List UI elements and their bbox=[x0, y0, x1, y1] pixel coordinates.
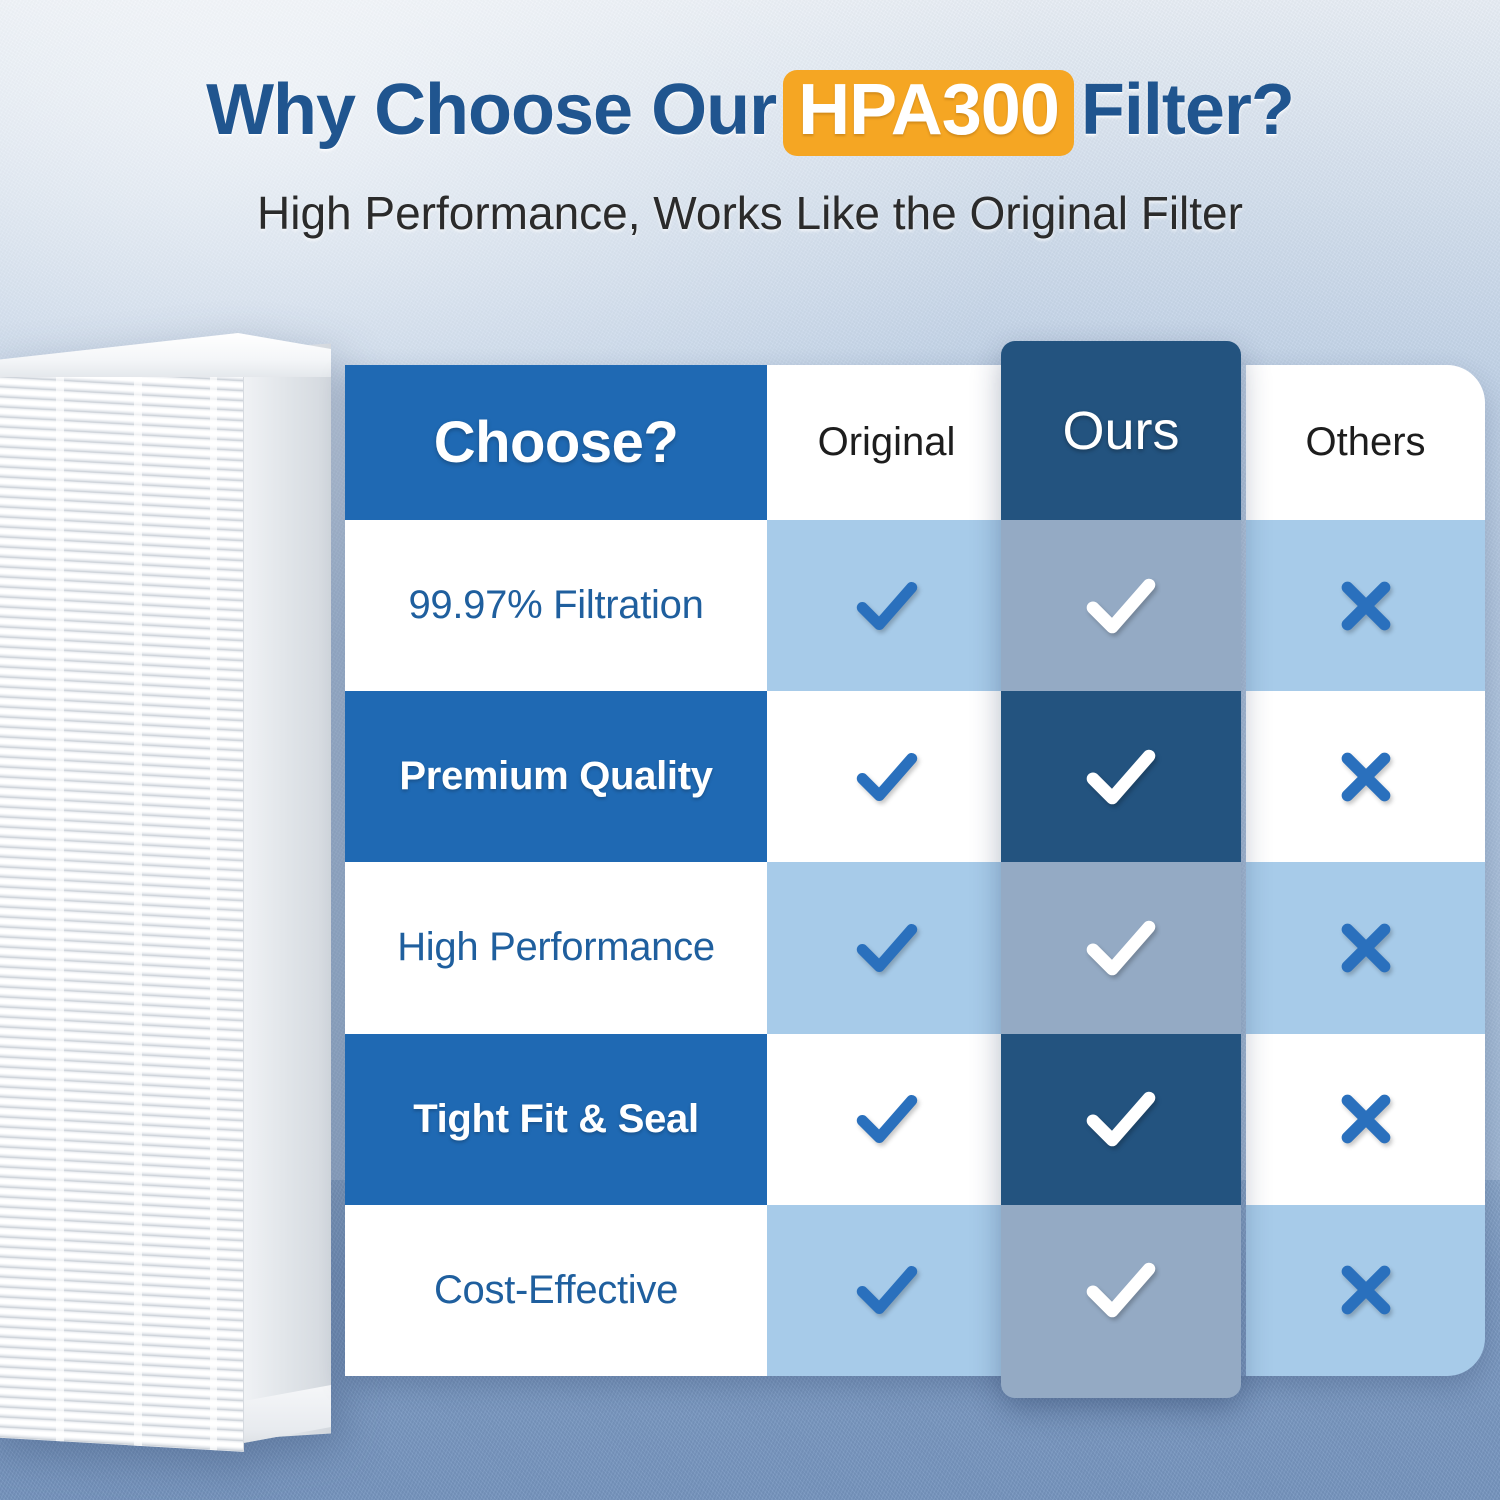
table-corner-label: Choose? bbox=[345, 365, 767, 520]
cross-icon bbox=[1329, 1082, 1403, 1156]
row-label-cell: High Performance bbox=[345, 862, 767, 1033]
table-header-row: Choose? Original Others bbox=[345, 365, 1485, 520]
row-label-cell: 99.97% Filtration bbox=[345, 520, 767, 691]
model-badge: HPA300 bbox=[783, 70, 1074, 156]
filter-side-face bbox=[243, 343, 331, 1439]
table-row: High Performance bbox=[345, 862, 1485, 1033]
row-label-cell: Tight Fit & Seal bbox=[345, 1034, 767, 1205]
title-prefix: Why Choose Our bbox=[206, 70, 776, 150]
page-subtitle: High Performance, Works Like the Origina… bbox=[0, 186, 1500, 240]
column-header-ours: Ours bbox=[1001, 341, 1241, 520]
cross-icon bbox=[1329, 911, 1403, 985]
check-icon bbox=[850, 569, 924, 643]
check-icon bbox=[850, 1082, 924, 1156]
check-icon bbox=[1079, 1248, 1163, 1332]
cell-original bbox=[767, 1034, 1006, 1205]
cell-original bbox=[767, 520, 1006, 691]
cross-icon bbox=[1329, 1253, 1403, 1327]
row-label-cell: Cost-Effective bbox=[345, 1205, 767, 1376]
cell-ours bbox=[1001, 520, 1241, 691]
hepa-filter-image bbox=[0, 333, 331, 1446]
check-icon bbox=[850, 1253, 924, 1327]
cell-ours bbox=[1001, 691, 1241, 862]
check-icon bbox=[850, 911, 924, 985]
cell-others bbox=[1246, 1205, 1485, 1376]
cell-original bbox=[767, 862, 1006, 1033]
cell-others bbox=[1246, 520, 1485, 691]
cell-original bbox=[767, 1205, 1006, 1376]
cross-icon bbox=[1329, 569, 1403, 643]
check-icon bbox=[850, 740, 924, 814]
table-row: Tight Fit & Seal bbox=[345, 1034, 1485, 1205]
cell-others bbox=[1246, 691, 1485, 862]
row-label-cell: Premium Quality bbox=[345, 691, 767, 862]
title-suffix: Filter? bbox=[1081, 70, 1294, 150]
check-icon bbox=[1079, 564, 1163, 648]
check-icon bbox=[1079, 1077, 1163, 1161]
check-icon bbox=[1079, 735, 1163, 819]
table-row: Cost-Effective bbox=[345, 1205, 1485, 1376]
column-header-others: Others bbox=[1246, 365, 1485, 520]
cell-ours bbox=[1001, 1205, 1241, 1376]
ours-card-footer bbox=[1001, 1376, 1241, 1398]
cell-ours bbox=[1001, 862, 1241, 1033]
feature-label: High Performance bbox=[397, 925, 715, 970]
feature-label: Cost-Effective bbox=[434, 1268, 678, 1313]
cell-others bbox=[1246, 862, 1485, 1033]
feature-label: 99.97% Filtration bbox=[408, 583, 703, 628]
heading-block: Why Choose OurHPA300Filter? High Perform… bbox=[0, 70, 1500, 240]
infographic-canvas: Why Choose OurHPA300Filter? High Perform… bbox=[0, 0, 1500, 1500]
comparison-table: Choose? Original Others 99.97% Filtratio… bbox=[345, 365, 1485, 1376]
filter-support-ribs bbox=[0, 359, 244, 1452]
cell-others bbox=[1246, 1034, 1485, 1205]
cell-ours bbox=[1001, 1034, 1241, 1205]
feature-label: Tight Fit & Seal bbox=[413, 1097, 699, 1142]
table-row: 99.97% Filtration bbox=[345, 520, 1485, 691]
ours-highlight-column: Ours bbox=[1001, 341, 1241, 1398]
cell-original bbox=[767, 691, 1006, 862]
check-icon bbox=[1079, 906, 1163, 990]
cross-icon bbox=[1329, 740, 1403, 814]
filter-top-cap bbox=[0, 333, 331, 377]
column-header-original: Original bbox=[767, 365, 1006, 520]
feature-label: Premium Quality bbox=[399, 754, 712, 799]
table-row: Premium Quality bbox=[345, 691, 1485, 862]
page-title: Why Choose OurHPA300Filter? bbox=[0, 70, 1500, 156]
